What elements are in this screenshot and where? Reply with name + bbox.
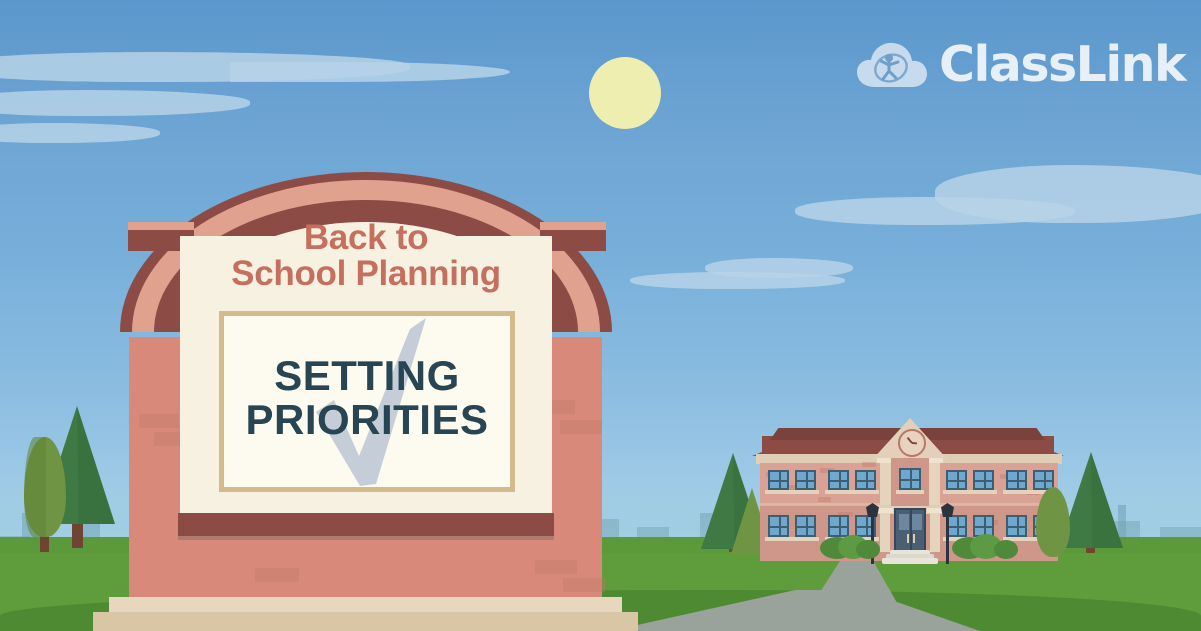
school-clock-icon bbox=[898, 429, 926, 457]
classlink-logo[interactable]: ClassLink bbox=[855, 36, 1185, 93]
school-window bbox=[973, 470, 994, 490]
school-entry-column-left bbox=[880, 508, 890, 552]
bush-right-3 bbox=[994, 540, 1018, 559]
sign-eyebrow-line2: School Planning bbox=[186, 256, 546, 292]
school-window bbox=[946, 470, 967, 490]
sign-base bbox=[129, 540, 602, 599]
bush-left-3 bbox=[856, 540, 880, 559]
classlink-wordmark: ClassLink bbox=[939, 36, 1185, 93]
sun-icon bbox=[589, 57, 661, 129]
sign-arch-cap-left-hl bbox=[128, 222, 194, 230]
school-column-right bbox=[929, 458, 940, 510]
school-window bbox=[768, 470, 789, 490]
school-entrance-door[interactable] bbox=[894, 508, 926, 552]
school-window bbox=[1006, 470, 1027, 490]
cloud-with-person-icon bbox=[855, 37, 929, 93]
school-steps-3 bbox=[882, 558, 938, 564]
school-window bbox=[1006, 515, 1027, 537]
sign-eyebrow-line1: Back to bbox=[186, 220, 546, 256]
tree-left-small-shade bbox=[24, 437, 46, 537]
sign-step-lower bbox=[93, 612, 638, 631]
sign-headline: SETTING PRIORITIES bbox=[224, 354, 510, 442]
school-window bbox=[795, 470, 816, 490]
sign-arch-cap-right-hl bbox=[540, 222, 606, 230]
sign-step-upper bbox=[109, 597, 622, 613]
lamp-post-right bbox=[946, 513, 949, 564]
school-column-left bbox=[880, 458, 891, 510]
school-window bbox=[828, 470, 849, 490]
banner-illustration: Back to School Planning SETTING PRIORITI… bbox=[0, 0, 1201, 631]
sign-headline-line2: PRIORITIES bbox=[224, 398, 510, 442]
school-window bbox=[828, 515, 849, 537]
school-window bbox=[946, 515, 967, 537]
school-window bbox=[855, 470, 876, 490]
cloud-right-small-lower bbox=[630, 272, 845, 289]
school-window bbox=[768, 515, 789, 537]
cloud-right-big-tail bbox=[795, 197, 1075, 225]
school-window bbox=[795, 515, 816, 537]
school-window-center bbox=[899, 468, 921, 490]
sign-headline-line1: SETTING bbox=[224, 354, 510, 398]
sign-eyebrow: Back to School Planning bbox=[186, 220, 546, 293]
school-entry-column-right bbox=[930, 508, 940, 552]
